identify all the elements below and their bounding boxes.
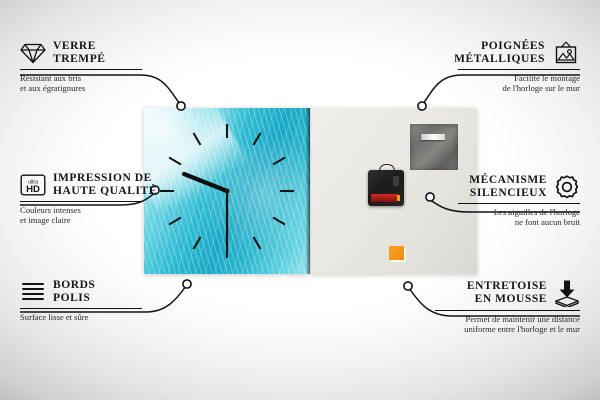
feature-title: BORDS POLIS xyxy=(53,279,95,305)
feature-desc-line1: Permet de maintenir une distance xyxy=(435,314,580,324)
down-arrow-foam-pad-icon xyxy=(554,279,580,307)
marker-entretoise xyxy=(404,282,412,290)
feature-verre-trempe: VERRE TREMPÉ Résistant aux bris et aux é… xyxy=(20,40,142,93)
marker-mecanisme xyxy=(426,193,434,201)
feature-desc-line1: Facilite le montage xyxy=(458,73,580,83)
feature-desc-line1: Couleurs intenses xyxy=(20,205,142,215)
feature-title: IMPRESSION DE HAUTE QUALITÉ xyxy=(53,172,157,198)
feature-title: ENTRETOISE EN MOUSSE xyxy=(467,280,547,306)
feature-title: VERRE TREMPÉ xyxy=(53,40,106,66)
feature-header: ENTRETOISE EN MOUSSE xyxy=(435,279,580,307)
feature-desc-line2: ne font aucun bruit xyxy=(458,217,580,227)
feature-title: MÉCANISME SILENCIEUX xyxy=(469,174,547,200)
marker-verre-trempe xyxy=(177,102,185,110)
feature-divider xyxy=(20,69,142,70)
hanging-picture-frame-icon xyxy=(552,41,580,65)
gear-icon xyxy=(554,174,580,200)
feature-header: POIGNÉES MÉTALLIQUES xyxy=(458,40,580,66)
feature-divider xyxy=(458,203,580,204)
marker-bords-polis xyxy=(183,280,191,288)
feature-desc-line1: Les aiguilles de l'horloge xyxy=(458,207,580,217)
feature-title-line1: MÉCANISME xyxy=(469,174,547,187)
feature-title-line1: IMPRESSION DE xyxy=(53,172,157,185)
feature-divider xyxy=(458,69,580,70)
feature-divider xyxy=(20,201,142,202)
feature-header: BORDS POLIS xyxy=(20,279,142,305)
feature-title-line2: TREMPÉ xyxy=(53,53,106,66)
feature-title-line1: ENTRETOISE xyxy=(467,280,547,293)
feature-title-line2: EN MOUSSE xyxy=(467,293,547,306)
feature-desc-line1: Surface lisse et sûre xyxy=(20,312,142,322)
feature-desc-line2: de l'horloge sur le mur xyxy=(458,83,580,93)
feature-title: POIGNÉES MÉTALLIQUES xyxy=(454,40,545,66)
ultra-hd-icon: ultra HD xyxy=(20,173,46,197)
feature-mecanisme-silencieux: MÉCANISME SILENCIEUX Les aiguilles de l'… xyxy=(458,174,580,227)
feature-title-line2: SILENCIEUX xyxy=(469,187,547,200)
feature-title-line2: POLIS xyxy=(53,292,95,305)
feature-divider xyxy=(435,310,580,311)
marker-poignees xyxy=(418,102,426,110)
feature-desc-line2: et aux égratignures xyxy=(20,83,142,93)
polished-edge-lines-icon xyxy=(20,281,46,303)
ultra-hd-icon-large-text: HD xyxy=(26,184,40,195)
diamond-icon xyxy=(20,42,46,64)
feature-desc-line1: Résistant aux bris xyxy=(20,73,142,83)
feature-divider xyxy=(20,308,142,309)
feature-entretoise-en-mousse: ENTRETOISE EN MOUSSE Permet de maintenir… xyxy=(435,279,580,334)
feature-title-line1: BORDS xyxy=(53,279,95,292)
feature-header: VERRE TREMPÉ xyxy=(20,40,142,66)
feature-title-line2: MÉTALLIQUES xyxy=(454,53,545,66)
feature-header: ultra HD IMPRESSION DE HAUTE QUALITÉ xyxy=(20,172,142,198)
infographic-canvas: VERRE TREMPÉ Résistant aux bris et aux é… xyxy=(0,0,600,400)
feature-poignees-metalliques: POIGNÉES MÉTALLIQUES Facilite le montage… xyxy=(458,40,580,93)
feature-title-line1: POIGNÉES xyxy=(454,40,545,53)
feature-header: MÉCANISME SILENCIEUX xyxy=(458,174,580,200)
feature-desc-line2: et image claire xyxy=(20,215,142,225)
feature-title-line2: HAUTE QUALITÉ xyxy=(53,185,157,198)
feature-impression-hd: ultra HD IMPRESSION DE HAUTE QUALITÉ Cou… xyxy=(20,172,142,225)
feature-title-line1: VERRE xyxy=(53,40,106,53)
feature-desc-line2: uniforme entre l'horloge et le mur xyxy=(435,324,580,334)
feature-bords-polis: BORDS POLIS Surface lisse et sûre xyxy=(20,279,142,322)
